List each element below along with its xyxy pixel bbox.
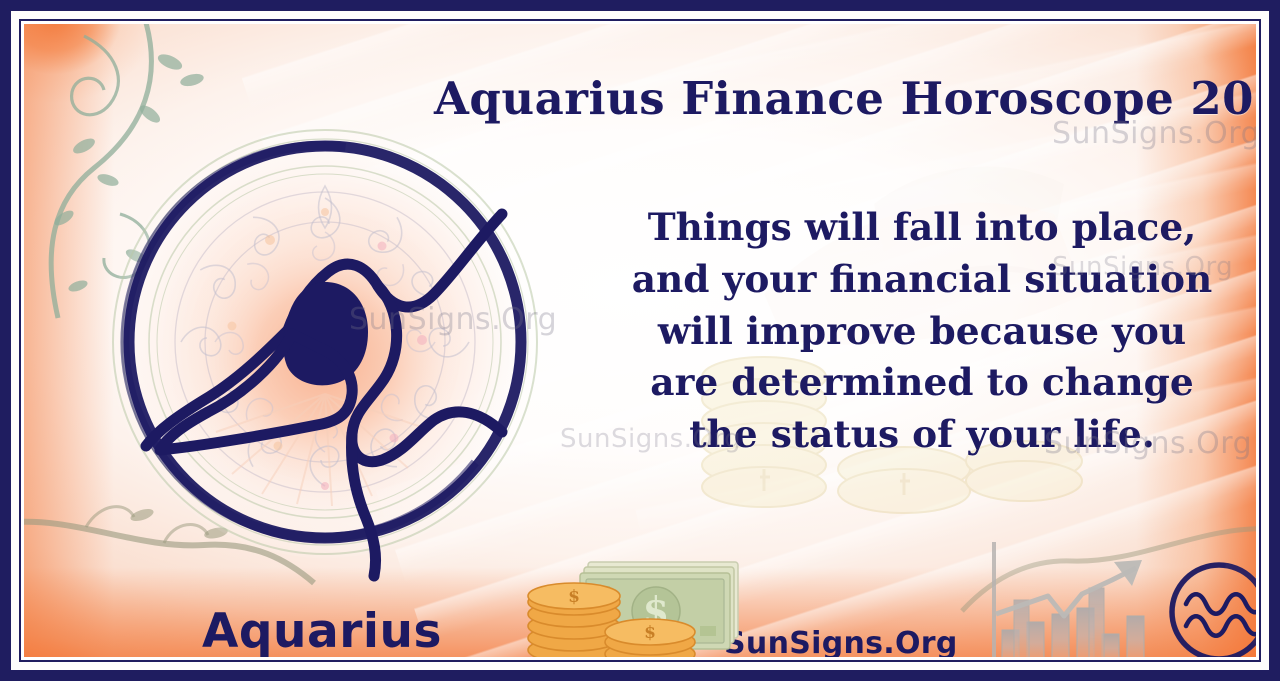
- poster-artwork-canvas: Aquarius Finance Horoscope 2022 Things w…: [24, 24, 1256, 657]
- brand-logo-text[interactable]: SunSigns.Org: [724, 626, 958, 657]
- coins-and-banknotes-icon: $ $: [522, 556, 752, 657]
- aquarius-wave-glyph-icon: [1162, 552, 1256, 657]
- horoscope-poster: Aquarius Finance Horoscope 2022 Things w…: [0, 0, 1280, 681]
- quote-line: Things will fall into place,: [584, 202, 1256, 254]
- quote-line: will improve because you: [584, 306, 1256, 358]
- horoscope-quote: Things will fall into place, and your fi…: [584, 202, 1256, 461]
- quote-line: the status of your life.: [584, 409, 1256, 461]
- growth-bar-chart-arrow-icon: [986, 536, 1156, 657]
- quote-line: and your financial situation: [584, 254, 1256, 306]
- zodiac-sign-name: Aquarius: [202, 604, 442, 657]
- svg-text:$: $: [644, 623, 656, 643]
- svg-text:$: $: [568, 587, 580, 607]
- aquarius-emblem-icon: [82, 94, 562, 584]
- page-title: Aquarius Finance Horoscope 2022: [434, 76, 1234, 123]
- quote-line: are determined to change: [584, 357, 1256, 409]
